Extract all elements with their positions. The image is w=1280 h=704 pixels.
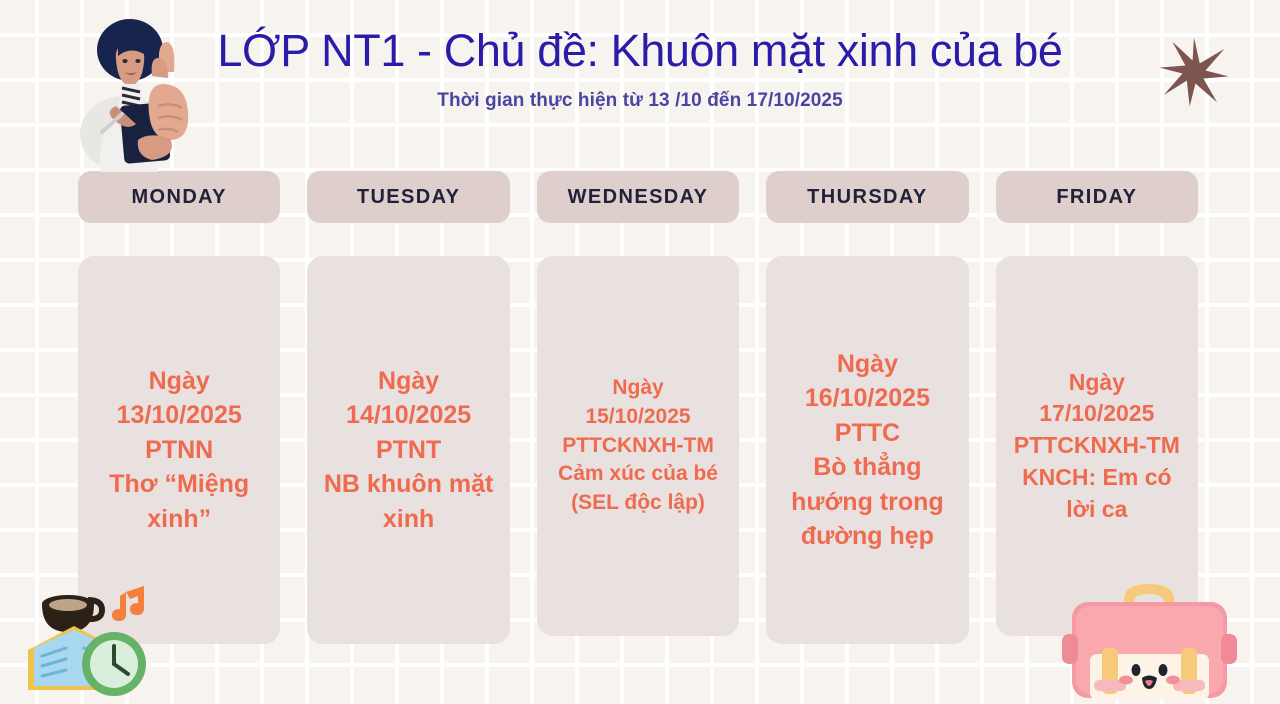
clock-icon	[82, 632, 146, 696]
day-card-thursday[interactable]: Ngày 16/10/2025 PTTC Bò thẳng hướng tron…	[766, 256, 968, 644]
card-line: KNCH: Em có	[1006, 462, 1188, 494]
card-line: PTTCKNXH-TM	[547, 432, 729, 461]
card-line: hướng trong	[776, 485, 958, 520]
weekday-header-row: MONDAY TUESDAY WEDNESDAY THURSDAY FRIDAY	[78, 171, 1198, 223]
day-card-tuesday[interactable]: Ngày 14/10/2025 PTNT NB khuôn mặt xinh	[307, 256, 509, 644]
card-line: Bò thẳng	[776, 450, 958, 485]
card-line: Ngày	[776, 347, 958, 382]
card-line: xinh	[317, 502, 499, 537]
day-card-wednesday[interactable]: Ngày 15/10/2025 PTTCKNXH-TM Cảm xúc của …	[537, 256, 739, 636]
day-header-monday[interactable]: MONDAY	[78, 171, 280, 223]
card-line: xinh”	[88, 502, 270, 537]
card-line: Ngày	[88, 364, 270, 399]
card-line: Ngày	[317, 364, 499, 399]
card-line: 16/10/2025	[776, 381, 958, 416]
weekday-card-row: Ngày 13/10/2025 PTNN Thơ “Miệng xinh” Ng…	[78, 256, 1198, 644]
card-line: PTNN	[88, 433, 270, 468]
card-line: Thơ “Miệng	[88, 467, 270, 502]
card-line: PTNT	[317, 433, 499, 468]
card-line: NB khuôn mặt	[317, 467, 499, 502]
pink-briefcase-illustration	[1062, 572, 1237, 704]
card-line: lời ca	[1006, 494, 1188, 526]
card-line: Cảm xúc của bé	[547, 460, 729, 489]
card-line: 13/10/2025	[88, 398, 270, 433]
person-pointing-illustration	[78, 14, 208, 172]
day-header-tuesday[interactable]: TUESDAY	[307, 171, 509, 223]
day-header-wednesday[interactable]: WEDNESDAY	[537, 171, 739, 223]
card-line: (SEL độc lập)	[547, 489, 729, 518]
card-line: PTTCKNXH-TM	[1006, 430, 1188, 462]
card-line: Ngày	[1006, 367, 1188, 399]
eight-point-star-icon	[1158, 36, 1230, 108]
card-line: 17/10/2025	[1006, 398, 1188, 430]
card-line: Ngày	[547, 374, 729, 403]
music-note-icon	[112, 586, 144, 621]
card-line: đường hẹp	[776, 519, 958, 554]
card-line: PTTC	[776, 416, 958, 451]
slide-canvas: LỚP NT1 - Chủ đề: Khuôn mặt xinh của bé …	[0, 0, 1280, 704]
day-header-friday[interactable]: FRIDAY	[996, 171, 1198, 223]
card-line: 15/10/2025	[547, 403, 729, 432]
book-coffee-clock-illustration	[22, 578, 177, 700]
card-line: 14/10/2025	[317, 398, 499, 433]
day-header-thursday[interactable]: THURSDAY	[766, 171, 968, 223]
coffee-mug-icon	[42, 595, 102, 632]
